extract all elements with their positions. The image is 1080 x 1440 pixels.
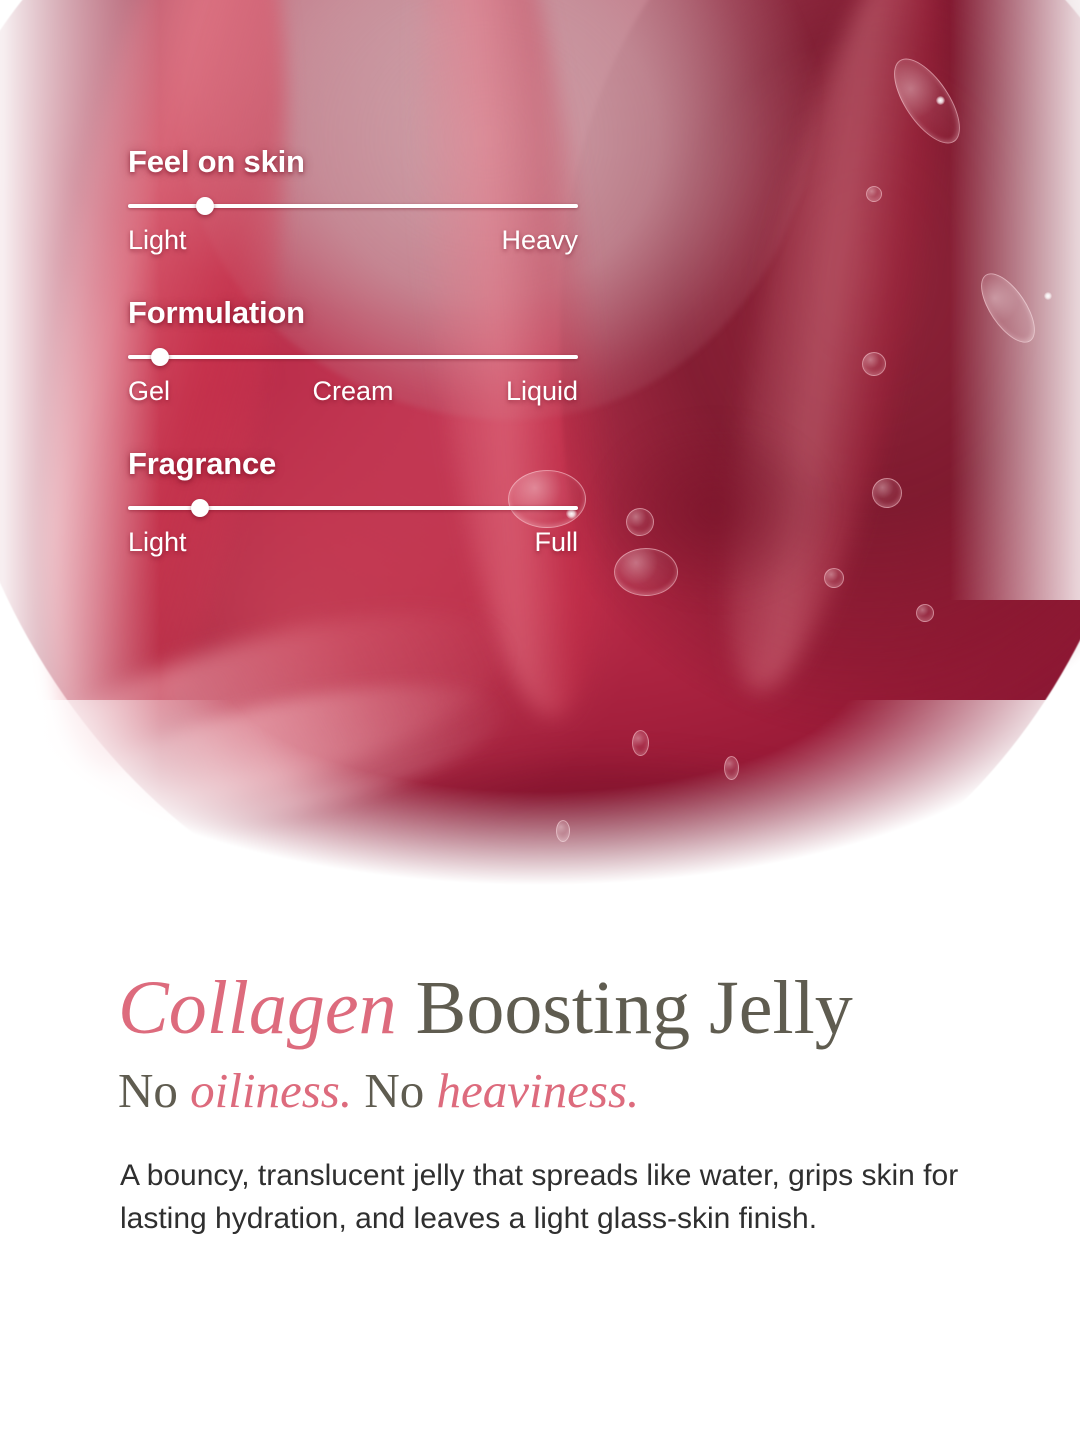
meter-title: Feel on skin bbox=[128, 146, 578, 177]
meter-scale: Gel Cream Liquid bbox=[128, 376, 578, 406]
subtitle-accent-one: oiliness. bbox=[190, 1063, 352, 1118]
subtitle-lead-two: No bbox=[352, 1063, 436, 1118]
gel-bubble-icon bbox=[824, 568, 844, 588]
meter-fragrance: Fragrance Light Full bbox=[128, 448, 578, 557]
meter-feel-on-skin: Feel on skin Light Heavy bbox=[128, 146, 578, 255]
product-description: A bouncy, translucent jelly that spreads… bbox=[0, 1117, 980, 1240]
meter-scale-start: Light bbox=[128, 527, 187, 557]
meter-scale-end: Heavy bbox=[501, 225, 578, 255]
meter-formulation: Formulation Gel Cream Liquid bbox=[128, 297, 578, 406]
product-title-rest: Boosting Jelly bbox=[397, 966, 853, 1050]
meter-thumb[interactable] bbox=[151, 348, 169, 366]
product-title-accent: Collagen bbox=[118, 966, 397, 1050]
gel-bubble-icon bbox=[872, 478, 902, 508]
gel-bubble-icon bbox=[916, 604, 934, 622]
meter-track[interactable] bbox=[128, 355, 578, 359]
meter-scale-end: Liquid bbox=[506, 376, 578, 406]
meter-scale-end: Full bbox=[534, 527, 578, 557]
meter-thumb[interactable] bbox=[191, 499, 209, 517]
product-copy-block: Collagen Boosting Jelly No oiliness. No … bbox=[0, 930, 1080, 1241]
product-subtitle: No oiliness. No heaviness. bbox=[0, 1048, 1080, 1118]
meter-scale-mid: Cream bbox=[312, 376, 393, 406]
meter-thumb[interactable] bbox=[196, 197, 214, 215]
hero-product-image: Feel on skin Light Heavy Formulation Gel… bbox=[0, 0, 1080, 930]
meter-scale-start: Light bbox=[128, 225, 187, 255]
meter-title: Formulation bbox=[128, 297, 578, 328]
gel-bubble-icon bbox=[862, 352, 886, 376]
meter-slider[interactable] bbox=[128, 348, 578, 366]
meter-scale-start: Gel bbox=[128, 376, 170, 406]
subtitle-accent-two: heaviness. bbox=[437, 1063, 640, 1118]
attribute-meters: Feel on skin Light Heavy Formulation Gel… bbox=[128, 146, 578, 557]
photo-floor bbox=[0, 912, 1080, 930]
meter-scale: Light Heavy bbox=[128, 225, 578, 255]
meter-title: Fragrance bbox=[128, 448, 578, 479]
gel-bubble-icon bbox=[614, 548, 678, 596]
subtitle-lead-one: No bbox=[118, 1063, 190, 1118]
product-title: Collagen Boosting Jelly bbox=[0, 930, 1080, 1048]
gel-sparkle-icon bbox=[936, 96, 945, 105]
photo-edge-fade-bottom bbox=[0, 700, 1080, 930]
photo-edge-fade-right bbox=[950, 0, 1080, 600]
meter-scale: Light Full bbox=[128, 527, 578, 557]
gel-bubble-icon bbox=[626, 508, 654, 536]
meter-slider[interactable] bbox=[128, 197, 578, 215]
meter-slider[interactable] bbox=[128, 499, 578, 517]
gel-bubble-icon bbox=[866, 186, 882, 202]
